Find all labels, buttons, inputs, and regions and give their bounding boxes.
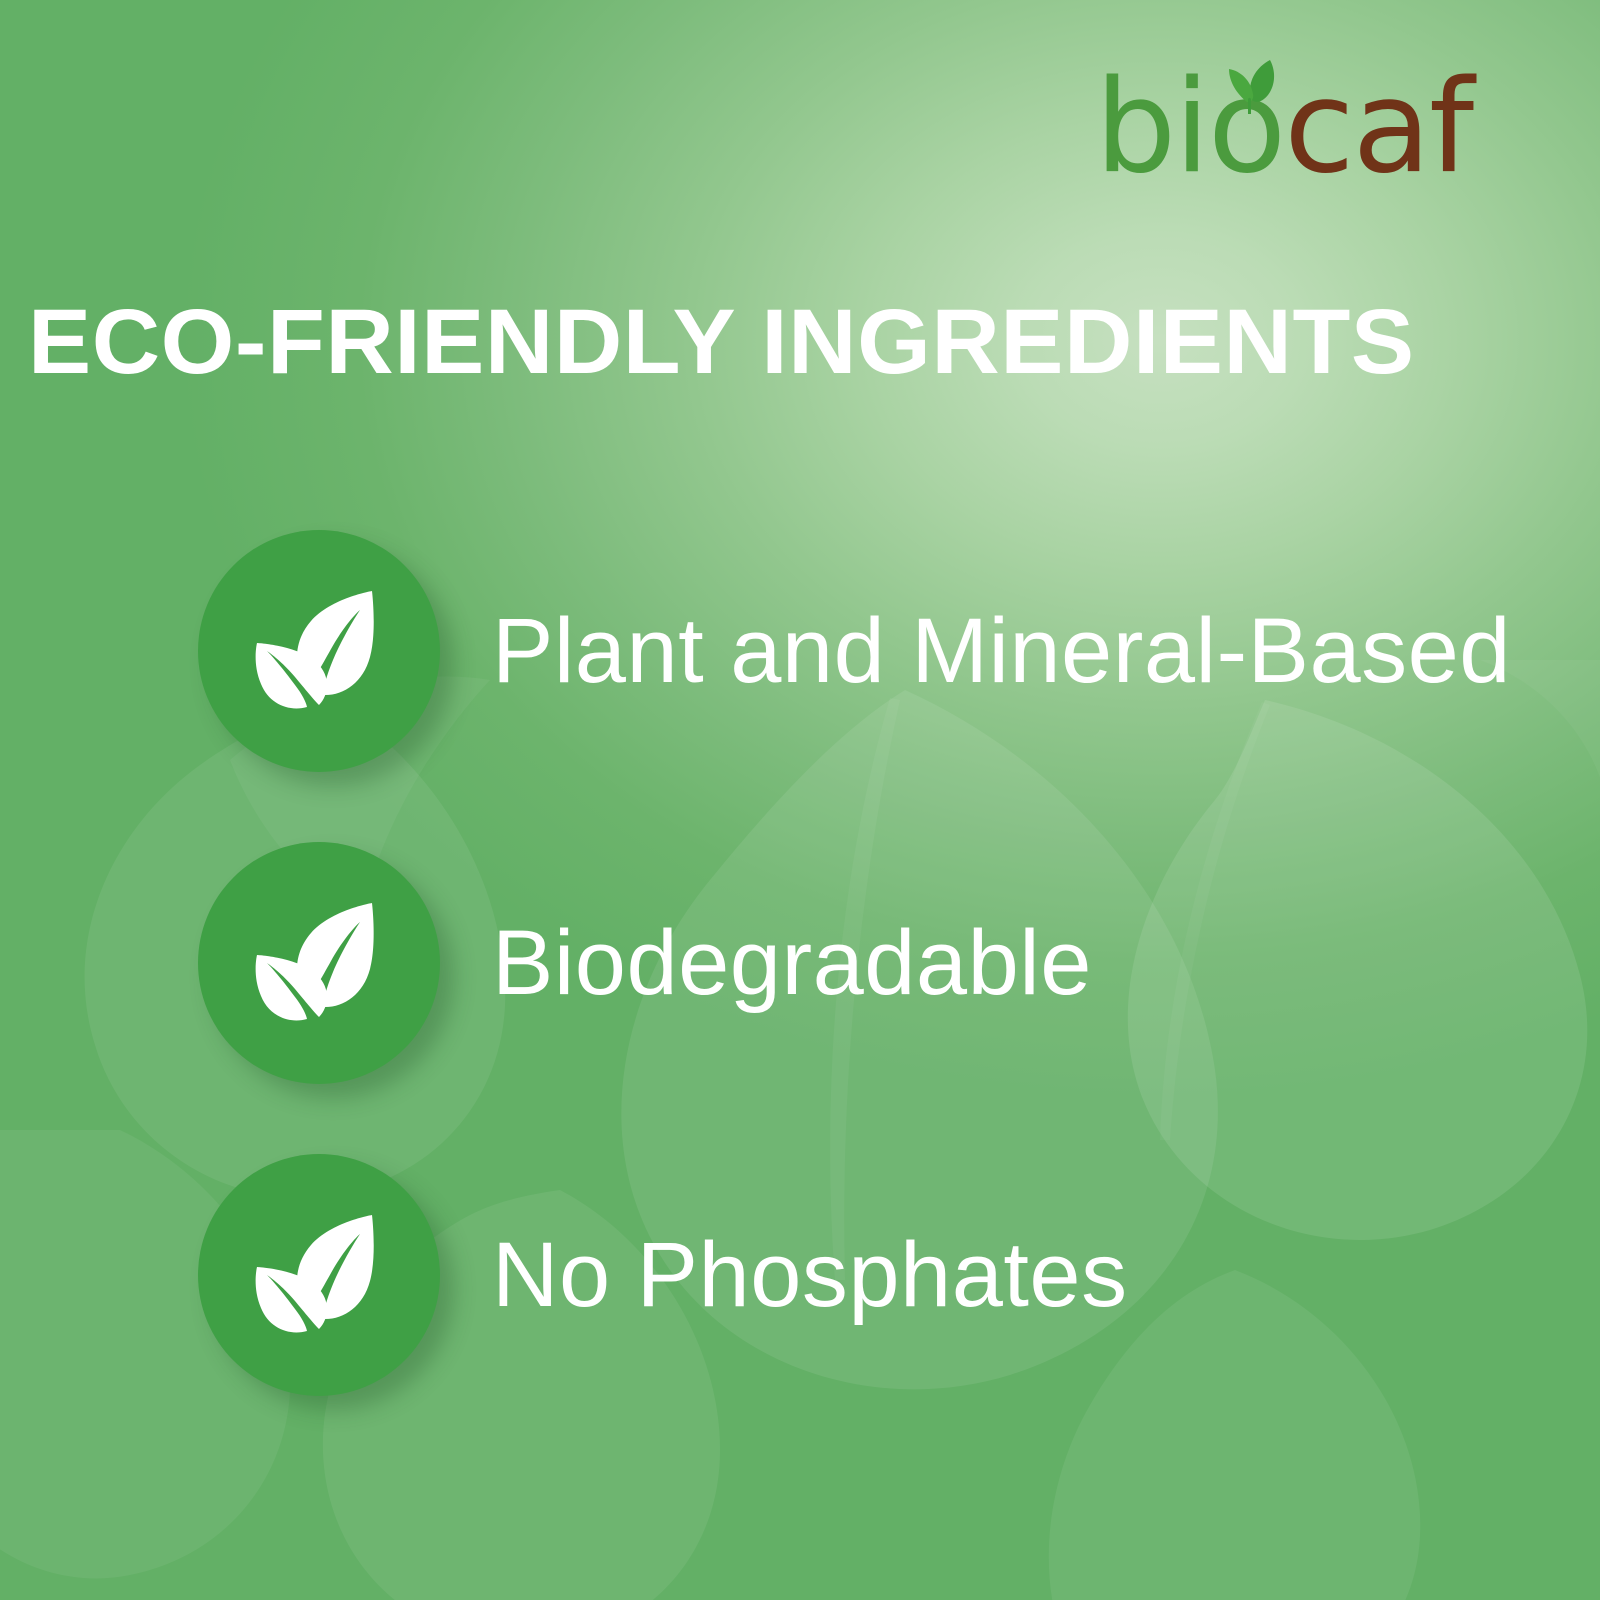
- feature-label: Biodegradable: [492, 917, 1092, 1009]
- feature-label: Plant and Mineral-Based: [492, 605, 1511, 697]
- feature-badge: [198, 842, 440, 1084]
- feature-badge: [198, 1154, 440, 1396]
- feature-badge: [198, 530, 440, 772]
- feature-list: Plant and Mineral-Based Biodegradable No…: [0, 0, 1600, 1600]
- list-item: Biodegradable: [198, 840, 1558, 1086]
- two-leaves-icon: [239, 883, 399, 1043]
- two-leaves-icon: [239, 1195, 399, 1355]
- feature-label: No Phosphates: [492, 1229, 1128, 1321]
- list-item: Plant and Mineral-Based: [198, 528, 1558, 774]
- two-leaves-icon: [239, 571, 399, 731]
- list-item: No Phosphates: [198, 1152, 1558, 1398]
- eco-friendly-ingredients-banner: biocaf ECO-FRIENDLY INGREDIENTS: [0, 0, 1600, 1600]
